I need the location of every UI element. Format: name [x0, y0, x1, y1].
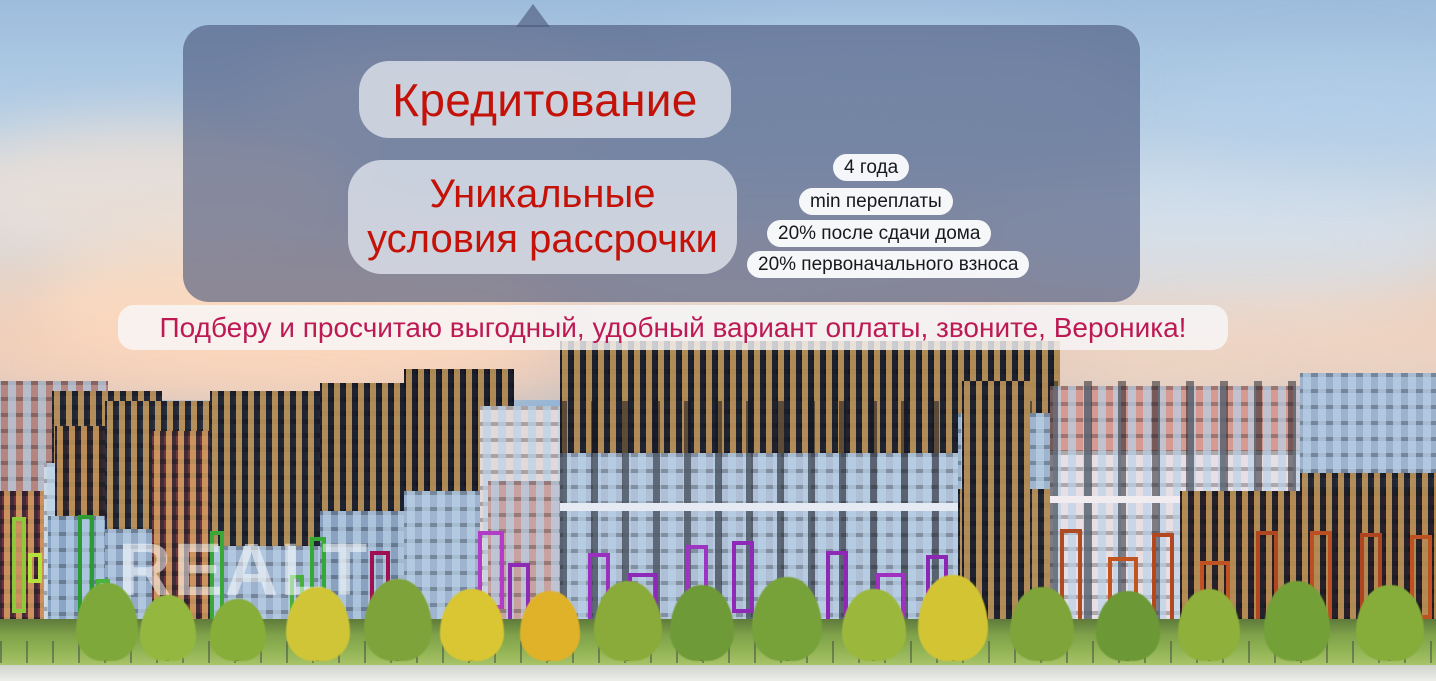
fact-pill-after-handover-label: 20% после сдачи дома: [778, 223, 980, 245]
headline-installment-line2: условия рассрочки: [367, 217, 718, 262]
facade-accent-frame: [28, 553, 42, 583]
headline-credit-pill: Кредитование: [359, 61, 731, 138]
headline-credit-text: Кредитование: [392, 73, 697, 127]
tagline-bar: Подберу и просчитаю выгодный, удобный ва…: [118, 305, 1228, 350]
facade-accent-frame: [732, 541, 754, 613]
fact-pill-down-payment: 20% первоначального взноса: [747, 251, 1029, 278]
headline-installment-line1: Уникальные: [430, 172, 656, 217]
residential-complex-image: REALT: [0, 340, 1436, 681]
fact-pill-overpayment: min переплаты: [799, 188, 953, 215]
fact-pill-down-payment-label: 20% первоначального взноса: [758, 254, 1018, 276]
fact-pill-after-handover: 20% после сдачи дома: [767, 220, 991, 247]
facade-accent-frame: [12, 517, 26, 613]
fact-pill-term: 4 года: [833, 154, 909, 181]
headline-installment-pill: Уникальные условия рассрочки: [348, 160, 737, 274]
speech-bubble-tail-icon: [516, 4, 550, 27]
fact-pill-term-label: 4 года: [844, 157, 898, 179]
advertisement-banner: REALT: [0, 0, 1436, 681]
tagline-text: Подберу и просчитаю выгодный, удобный ва…: [160, 312, 1187, 344]
road-foreground: [0, 665, 1436, 681]
fact-pill-overpayment-label: min переплаты: [810, 191, 942, 213]
cloud-shape: [1180, 60, 1436, 170]
